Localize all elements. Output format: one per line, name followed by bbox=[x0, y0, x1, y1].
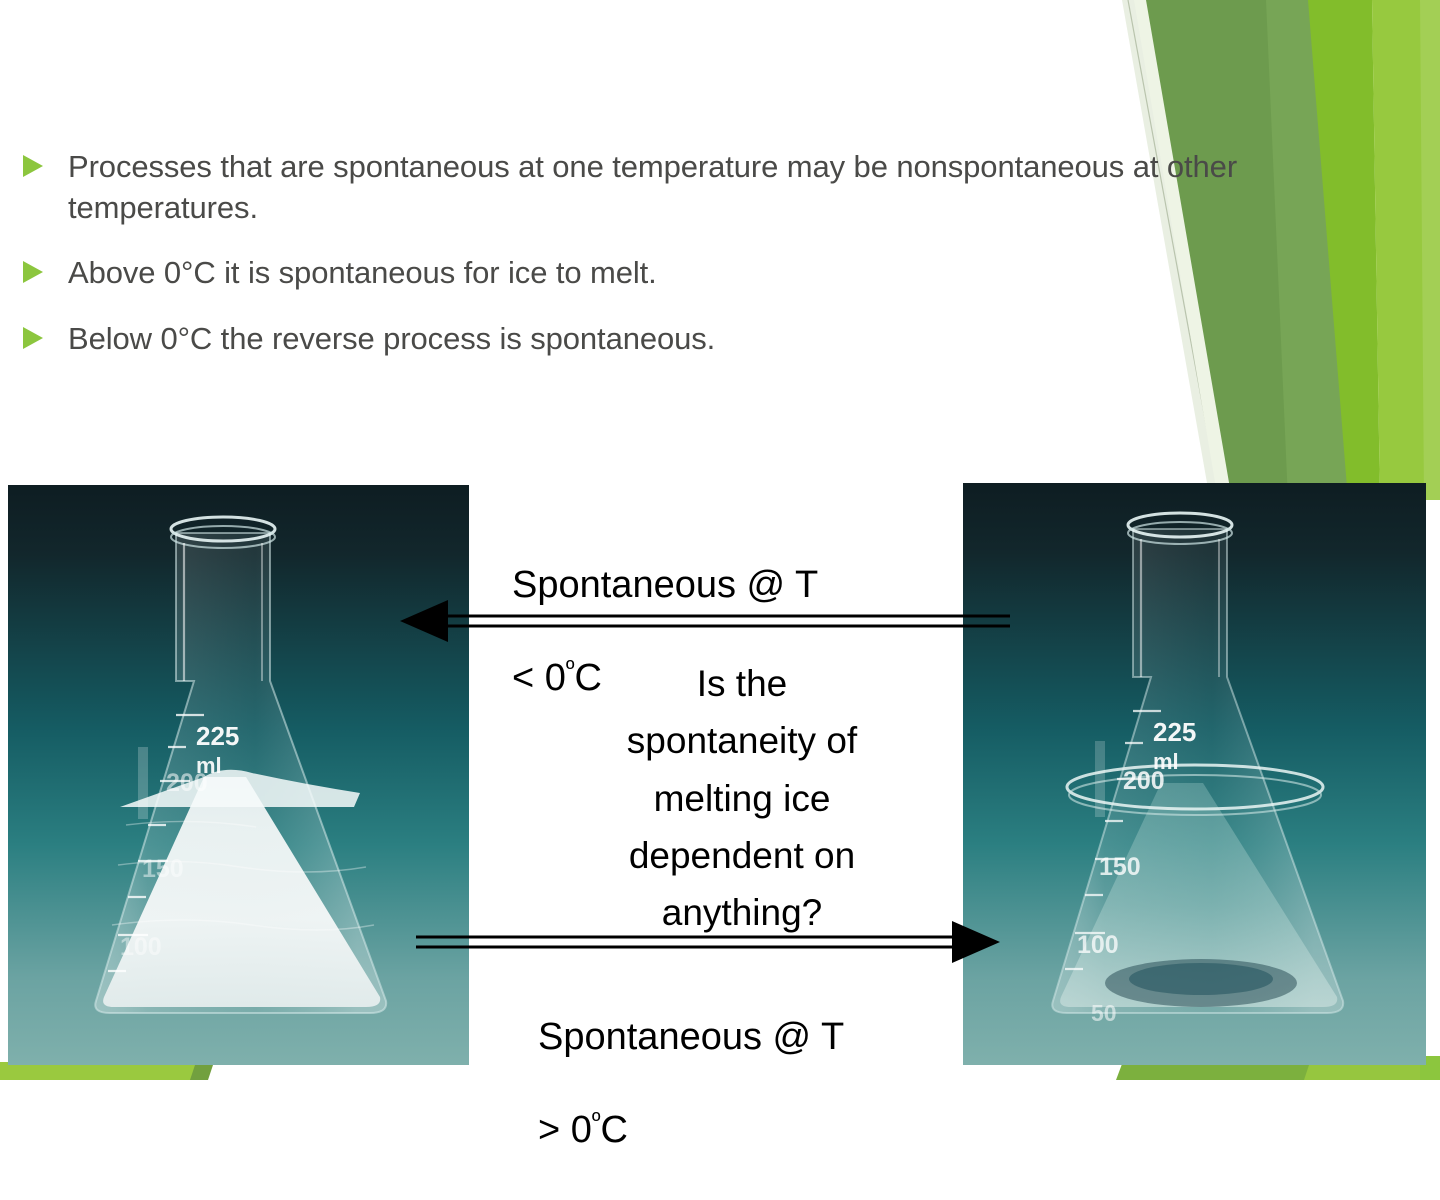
flask-ice-illustration: 225 ml 200 150 100 bbox=[8, 485, 469, 1065]
bottom-arrow-label-line1: Spontaneous @ T bbox=[538, 1014, 958, 1060]
svg-text:150: 150 bbox=[142, 855, 184, 883]
svg-text:150: 150 bbox=[1099, 853, 1141, 881]
svg-text:225: 225 bbox=[1153, 717, 1196, 747]
top-arrow-label-line1: Spontaneous @ T bbox=[512, 562, 942, 608]
center-question-label: Is the spontaneity of melting ice depend… bbox=[552, 655, 932, 942]
bottom-arrow-label-line2: > 0ºC bbox=[538, 1107, 958, 1153]
flask-with-ice-photo: 225 ml 200 150 100 bbox=[8, 485, 469, 1065]
svg-text:50: 50 bbox=[1091, 1000, 1117, 1026]
svg-text:200: 200 bbox=[166, 769, 208, 797]
ice-water-diagram: 225 ml 200 150 100 bbox=[0, 0, 1440, 1080]
degree-symbol-icon: º bbox=[592, 1107, 601, 1133]
flask-with-water-photo: 225 ml 200 150 100 50 bbox=[963, 483, 1426, 1065]
bottom-arrow-label-line2-post: C bbox=[601, 1109, 628, 1151]
flask-water-illustration: 225 ml 200 150 100 50 bbox=[963, 483, 1426, 1065]
bottom-arrow-label-line2-pre: > 0 bbox=[538, 1109, 592, 1151]
svg-text:100: 100 bbox=[120, 933, 162, 961]
bottom-arrow-label: Spontaneous @ T > 0ºC bbox=[538, 968, 958, 1200]
svg-text:200: 200 bbox=[1123, 767, 1165, 795]
svg-text:225: 225 bbox=[196, 721, 239, 751]
svg-text:100: 100 bbox=[1077, 931, 1119, 959]
